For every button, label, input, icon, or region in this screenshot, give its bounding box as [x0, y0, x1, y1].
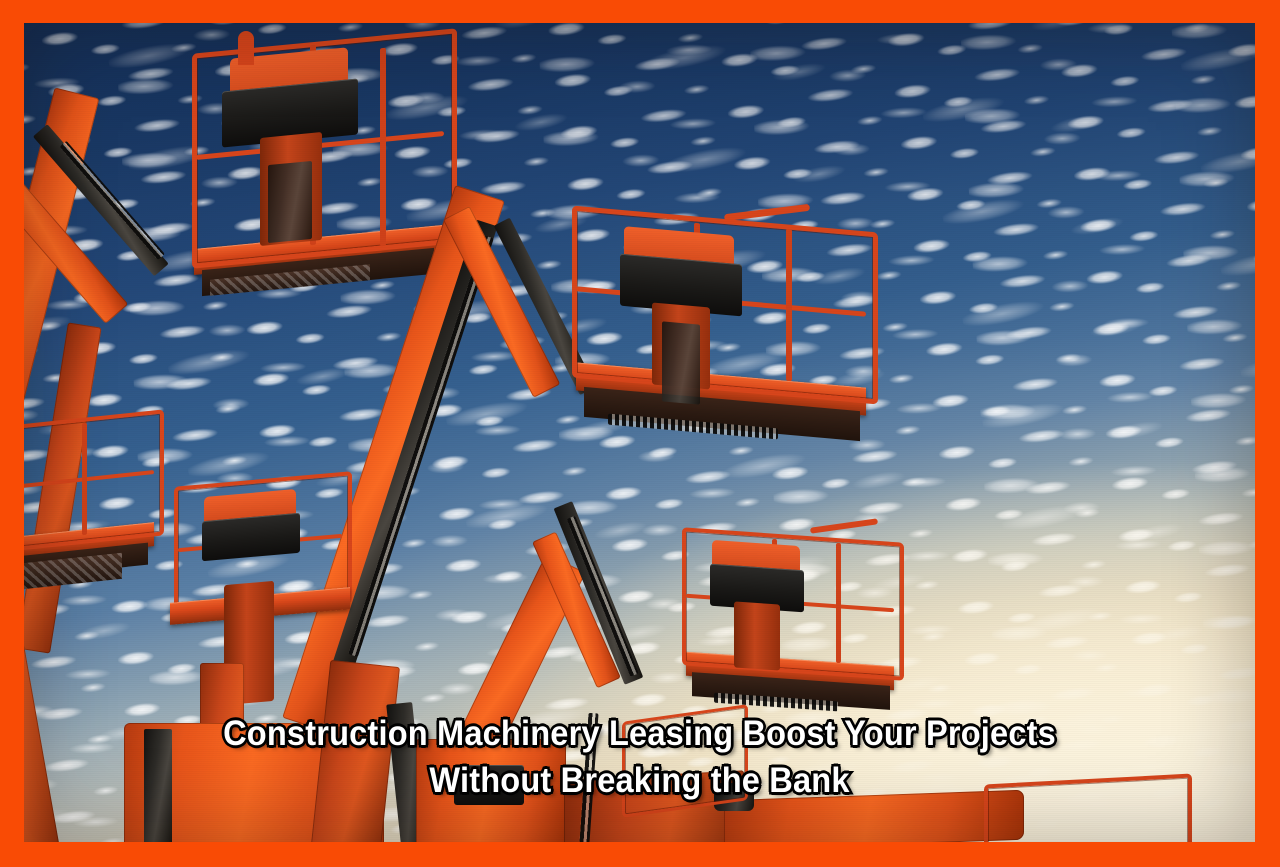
guardrail-post [836, 543, 841, 663]
rotator-housing [268, 161, 312, 243]
banner-page: Construction Machinery Leasing Boost You… [0, 0, 1280, 867]
hero-photo: Construction Machinery Leasing Boost You… [24, 23, 1255, 842]
guardrail-post [786, 229, 792, 382]
guardrail-post [380, 48, 386, 247]
rotator-housing [662, 321, 700, 404]
platform-riser [734, 601, 780, 670]
guardrail-post [82, 423, 87, 536]
grab-handle [238, 31, 254, 65]
chassis-strut [144, 729, 172, 842]
guardrail-bottom-right [984, 774, 1192, 842]
engine-cowl [454, 765, 524, 805]
guardrail-bottom-center [622, 704, 748, 818]
